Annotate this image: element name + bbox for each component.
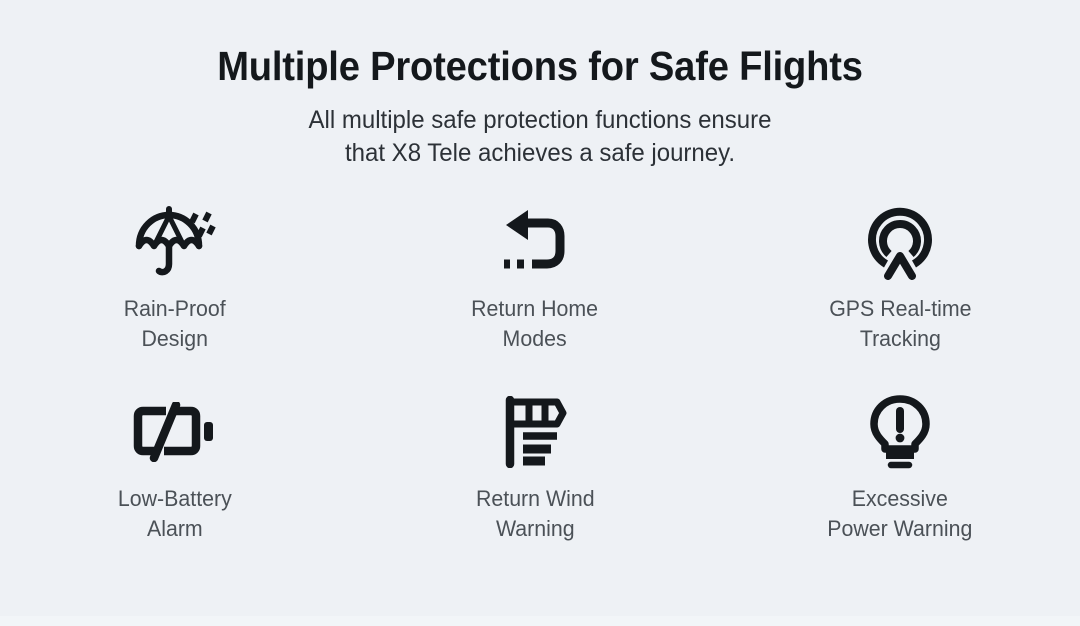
feature-label-line-2: Design — [124, 324, 226, 354]
lightbulb-alert-icon — [868, 386, 932, 478]
wind-flag-icon — [501, 386, 569, 478]
feature-label: Low-Battery Alarm — [118, 484, 232, 544]
page-title: Multiple Protections for Safe Flights — [38, 0, 1042, 90]
header: Multiple Protections for Safe Flights Al… — [0, 0, 1080, 171]
feature-label-line-1: Excessive — [827, 484, 972, 514]
feature-low-battery-alarm: Low-Battery Alarm — [0, 386, 360, 576]
bottom-edge-band — [0, 616, 1080, 626]
feature-label-line-1: Low-Battery — [118, 484, 232, 514]
feature-label-line-1: Rain-Proof — [124, 294, 226, 324]
feature-label: Rain-Proof Design — [124, 294, 226, 354]
return-arrow-icon — [498, 196, 570, 288]
feature-label-line-1: GPS Real-time — [829, 294, 971, 324]
feature-label-line-2: Power Warning — [827, 514, 972, 544]
umbrella-rain-icon — [133, 196, 217, 288]
feature-label: Return Home Modes — [471, 294, 598, 354]
feature-label: Return Wind Warning — [476, 484, 595, 544]
feature-excessive-power-warning: Excessive Power Warning — [720, 386, 1080, 576]
feature-label: GPS Real-time Tracking — [829, 294, 971, 354]
page-subtitle: All multiple safe protection functions e… — [22, 90, 1059, 171]
feature-label: Excessive Power Warning — [827, 484, 972, 544]
feature-label-line-2: Modes — [471, 324, 598, 354]
feature-label-line-1: Return Wind — [476, 484, 595, 514]
feature-label-line-1: Return Home — [471, 294, 598, 324]
feature-label-line-2: Warning — [476, 514, 595, 544]
feature-gps-realtime-tracking: GPS Real-time Tracking — [720, 196, 1080, 386]
feature-return-home-modes: Return Home Modes — [360, 196, 720, 386]
feature-return-wind-warning: Return Wind Warning — [360, 386, 720, 576]
feature-label-line-2: Alarm — [118, 514, 232, 544]
feature-rain-proof-design: Rain-Proof Design — [0, 196, 360, 386]
subtitle-line-1: All multiple safe protection functions e… — [22, 104, 1059, 138]
gps-signal-icon — [864, 196, 936, 288]
feature-label-line-2: Tracking — [829, 324, 971, 354]
subtitle-line-2: that X8 Tele achieves a safe journey. — [22, 137, 1059, 171]
promo-panel: Multiple Protections for Safe Flights Al… — [0, 0, 1080, 626]
battery-slash-icon — [132, 386, 218, 478]
feature-grid: Rain-Proof Design Return Home Modes — [0, 196, 1080, 576]
